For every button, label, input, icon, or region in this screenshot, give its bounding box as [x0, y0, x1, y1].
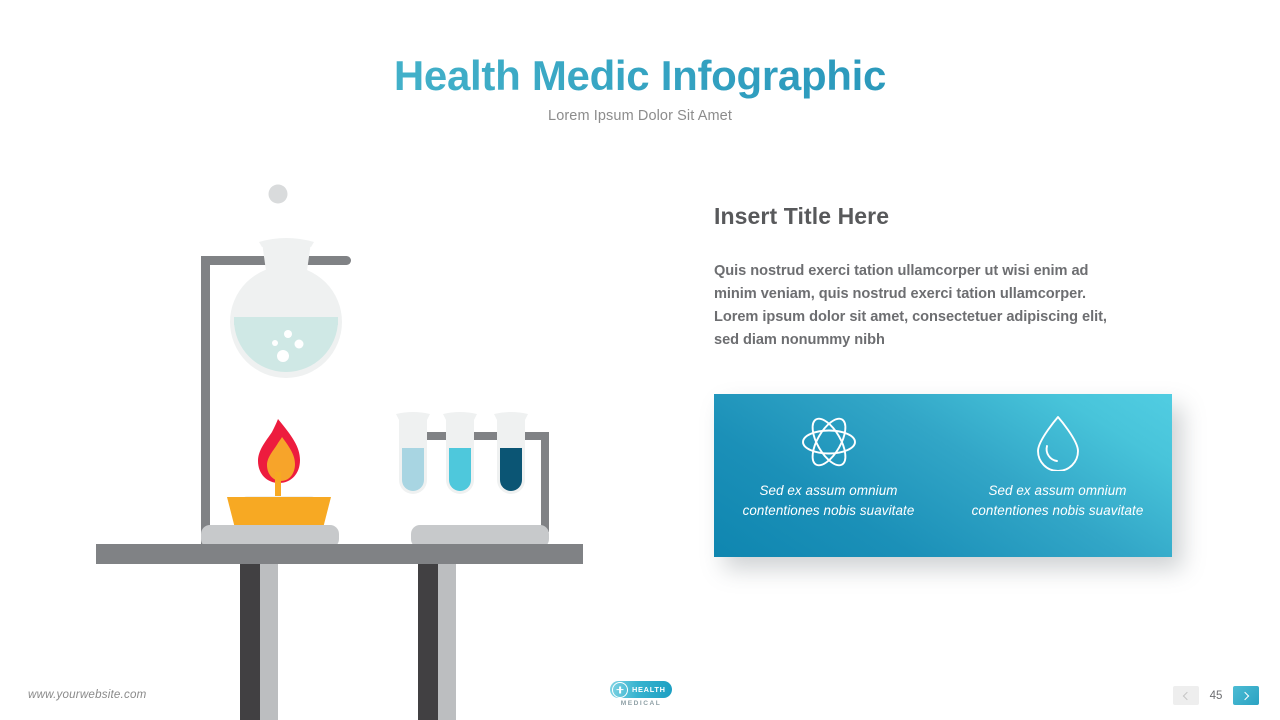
test-tube-2-liquid: [449, 448, 471, 491]
pagination-controls: 45: [1173, 686, 1259, 705]
liquid-bubble: [284, 330, 292, 338]
previous-slide-button[interactable]: [1173, 686, 1199, 705]
section-title: Insert Title Here: [714, 203, 1184, 230]
feature-caption: Sed ex assum omnium contentiones nobis s…: [741, 481, 916, 520]
logo-subtitle: MEDICAL: [610, 700, 672, 707]
test-tube-3-liquid: [500, 448, 522, 491]
feature-card: Sed ex assum omnium contentiones nobis s…: [714, 394, 1172, 557]
vapor-bubble: [269, 185, 288, 204]
logo-pill: HEALTH: [610, 681, 672, 698]
atom-icon: [800, 413, 858, 471]
liquid-bubble: [277, 350, 289, 362]
feature-caption: Sed ex assum omnium contentiones nobis s…: [970, 481, 1145, 520]
content-column: Insert Title Here Quis nostrud exerci ta…: [714, 203, 1184, 352]
table-leg-dark: [240, 564, 260, 720]
medical-plus-icon: [612, 682, 628, 698]
test-tube-rack-post: [541, 432, 549, 532]
test-tube-rack-bar: [416, 432, 549, 440]
table-leg-light: [260, 564, 278, 720]
feature-column-water[interactable]: Sed ex assum omnium contentiones nobis s…: [943, 394, 1172, 557]
liquid-bubble: [272, 340, 278, 346]
water-drop-icon: [1034, 413, 1082, 471]
lab-table-top: [96, 544, 583, 564]
liquid-bubble: [295, 340, 304, 349]
test-tube-1-liquid: [402, 448, 424, 491]
footer-website-url[interactable]: www.yourwebsite.com: [28, 688, 147, 701]
table-leg-dark: [418, 564, 438, 720]
logo-word: HEALTH: [632, 685, 666, 694]
chemistry-lab-illustration: [0, 0, 700, 720]
ring-stand-post: [201, 256, 210, 556]
brand-logo: HEALTH MEDICAL: [610, 681, 672, 707]
next-slide-button[interactable]: [1233, 686, 1259, 705]
chevron-left-icon: [1183, 691, 1191, 699]
chevron-right-icon: [1241, 691, 1249, 699]
slide-canvas: Health Medic Infographic Lorem Ipsum Dol…: [0, 0, 1280, 720]
table-leg-light: [438, 564, 456, 720]
body-paragraph: Quis nostrud exerci tation ullamcorper u…: [714, 260, 1109, 352]
page-number: 45: [1199, 690, 1233, 702]
feature-column-atom[interactable]: Sed ex assum omnium contentiones nobis s…: [714, 394, 943, 557]
